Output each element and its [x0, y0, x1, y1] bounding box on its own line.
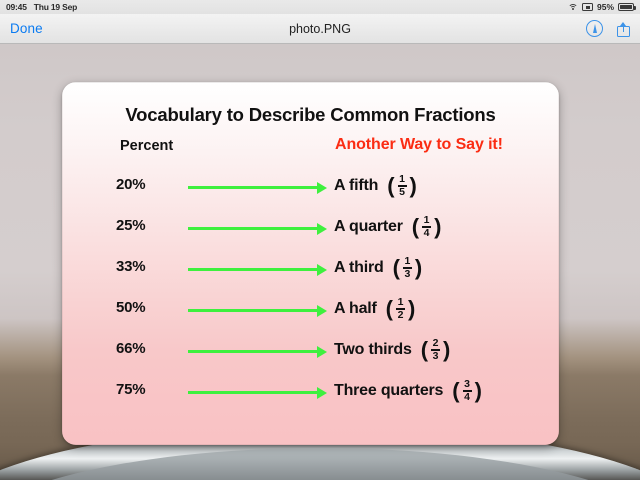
battery-icon [618, 3, 634, 11]
row-fraction: ( 2 3 ) [421, 338, 451, 362]
photo-viewer-screen: 09:45 Thu 19 Sep 95% Done photo.PNG Voca… [0, 0, 640, 480]
row-percent: 33% [116, 258, 186, 275]
fraction-stack: 1 5 [398, 174, 407, 198]
fraction-numerator: 2 [432, 338, 440, 349]
arrow-icon [188, 309, 318, 312]
fraction-denominator: 5 [398, 187, 406, 198]
open-paren: ( [387, 175, 394, 197]
status-bar: 09:45 Thu 19 Sep 95% [0, 0, 640, 14]
row-phrase-group: A fifth ( 1 5 ) [334, 171, 549, 201]
row-fraction: ( 3 4 ) [452, 379, 482, 403]
fraction-numerator: 1 [398, 174, 406, 185]
table-row: 33% A third ( 1 3 ) [62, 250, 559, 291]
arrow-icon [188, 186, 318, 189]
row-phrase: A fifth [334, 171, 378, 201]
close-paren: ) [434, 216, 441, 238]
fraction-numerator: 1 [423, 215, 431, 226]
fraction-denominator: 3 [432, 351, 440, 362]
row-phrase-group: Two thirds ( 2 3 ) [334, 335, 549, 365]
open-paren: ( [452, 380, 459, 402]
poster-column-headers: Percent Another Way to Say it! [62, 136, 559, 166]
photo-image[interactable]: Vocabulary to Describe Common Fractions … [0, 44, 640, 480]
status-date: Thu 19 Sep [34, 2, 77, 12]
fraction-stack: 2 3 [431, 338, 440, 362]
fraction-numerator: 1 [403, 256, 411, 267]
status-bar-right: 95% [568, 2, 634, 12]
markup-icon[interactable] [586, 20, 603, 37]
row-phrase: A third [334, 253, 384, 283]
close-paren: ) [475, 380, 482, 402]
table-row: 20% A fifth ( 1 5 ) [62, 168, 559, 209]
status-bar-left: 09:45 Thu 19 Sep [6, 2, 77, 12]
open-paren: ( [412, 216, 419, 238]
fraction-stack: 1 3 [403, 256, 412, 280]
fraction-stack: 1 4 [422, 215, 431, 239]
close-paren: ) [410, 175, 417, 197]
arrow-icon [188, 268, 318, 271]
row-phrase: Two thirds [334, 335, 412, 365]
status-time: 09:45 [6, 2, 27, 12]
share-icon[interactable] [617, 21, 630, 37]
fraction-numerator: 3 [463, 379, 471, 390]
column-header-percent: Percent [120, 138, 173, 154]
close-paren: ) [443, 339, 450, 361]
row-fraction: ( 1 4 ) [412, 215, 442, 239]
table-row: 66% Two thirds ( 2 3 ) [62, 332, 559, 373]
fraction-stack: 1 2 [396, 297, 405, 321]
fraction-denominator: 2 [397, 310, 405, 321]
fraction-denominator: 3 [403, 269, 411, 280]
open-paren: ( [393, 257, 400, 279]
page-title: photo.PNG [0, 22, 640, 36]
row-percent: 25% [116, 217, 186, 234]
row-fraction: ( 1 5 ) [387, 174, 417, 198]
close-paren: ) [415, 257, 422, 279]
row-phrase: A quarter [334, 212, 403, 242]
nav-bar-actions [586, 20, 630, 37]
poster-title: Vocabulary to Describe Common Fractions [62, 104, 559, 126]
fraction-numerator: 1 [397, 297, 405, 308]
table-row: 75% Three quarters ( 3 4 ) [62, 373, 559, 414]
nav-bar: Done photo.PNG [0, 14, 640, 44]
row-fraction: ( 1 3 ) [393, 256, 423, 280]
row-percent: 75% [116, 381, 186, 398]
arrow-icon [188, 227, 318, 230]
row-percent: 66% [116, 340, 186, 357]
row-percent: 20% [116, 176, 186, 193]
done-button[interactable]: Done [10, 21, 43, 36]
column-header-another-way: Another Way to Say it! [335, 136, 503, 154]
battery-percent-label: 95% [597, 2, 614, 12]
arrow-icon [188, 350, 318, 353]
row-phrase-group: Three quarters ( 3 4 ) [334, 376, 549, 406]
row-percent: 50% [116, 299, 186, 316]
fraction-denominator: 4 [463, 392, 471, 403]
wifi-icon [568, 3, 578, 12]
fraction-rows: 20% A fifth ( 1 5 ) [62, 168, 559, 414]
screen-mirroring-icon [582, 3, 593, 11]
fractions-poster: Vocabulary to Describe Common Fractions … [62, 82, 559, 445]
fraction-stack: 3 4 [463, 379, 472, 403]
fraction-denominator: 4 [423, 228, 431, 239]
row-phrase-group: A quarter ( 1 4 ) [334, 212, 549, 242]
row-phrase: Three quarters [334, 376, 443, 406]
open-paren: ( [421, 339, 428, 361]
table-row: 25% A quarter ( 1 4 ) [62, 209, 559, 250]
table-row: 50% A half ( 1 2 ) [62, 291, 559, 332]
open-paren: ( [386, 298, 393, 320]
arrow-icon [188, 391, 318, 394]
row-phrase: A half [334, 294, 377, 324]
row-phrase-group: A half ( 1 2 ) [334, 294, 549, 324]
row-fraction: ( 1 2 ) [386, 297, 416, 321]
close-paren: ) [408, 298, 415, 320]
row-phrase-group: A third ( 1 3 ) [334, 253, 549, 283]
